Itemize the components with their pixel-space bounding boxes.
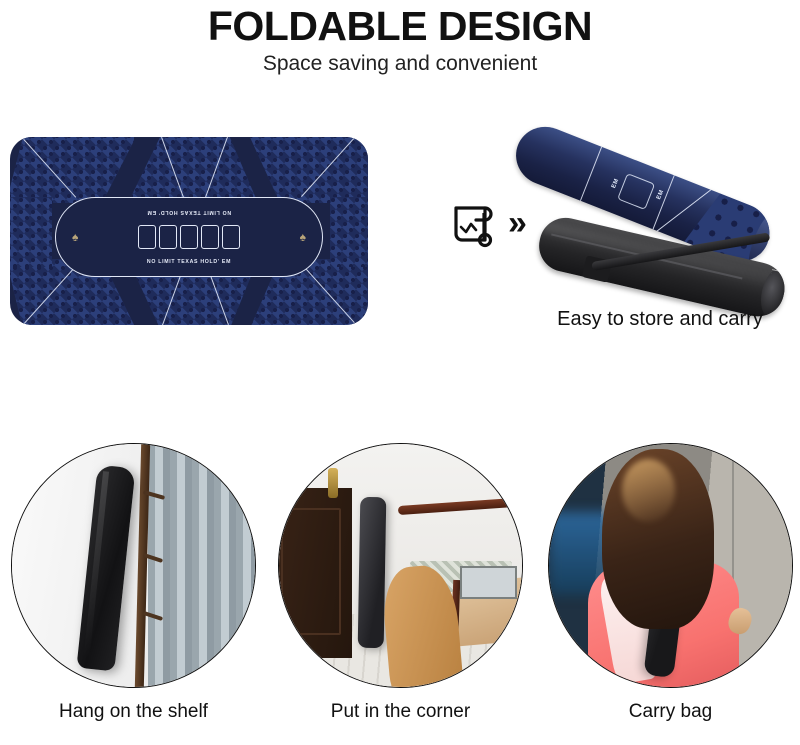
photo-hang-on-shelf [11, 443, 256, 688]
usage-scenes: Hang on the shelf Put in the corner [0, 443, 800, 743]
mat-label-bottom: NO LIMIT TEXAS HOLD' EM [56, 259, 322, 265]
standing-carry-bag [358, 497, 387, 648]
mat-panel-mid-left [10, 197, 52, 267]
rolled-mat-seam [580, 147, 603, 201]
rolled-mat-card-slot [617, 173, 655, 210]
scene-curtain [148, 444, 255, 687]
spade-emblem-left-icon: ♠ [72, 231, 78, 243]
mat-playing-oval: NO LIMIT TEXAS HOLD' EM ♠ ♠ NO LIMIT TEX… [55, 197, 323, 277]
photo-put-in-corner [278, 443, 523, 688]
rolled-mat-icon [452, 200, 498, 248]
card-slot-row [138, 225, 240, 249]
poker-mat-image: NO LIMIT TEXAS HOLD' EM ♠ ♠ NO LIMIT TEX… [10, 137, 368, 325]
photo-carry-bag [548, 443, 793, 688]
poker-mat-surface: NO LIMIT TEXAS HOLD' EM ♠ ♠ NO LIMIT TEX… [10, 137, 368, 325]
usage-caption-1: Hang on the shelf [11, 701, 256, 723]
rolled-mat-label: EM [611, 178, 620, 190]
wooden-cabinet [278, 488, 352, 658]
mat-panel-top-right [248, 137, 368, 203]
picture-frame [460, 566, 517, 599]
usage-caption-3: Carry bag [548, 701, 793, 723]
page-subtitle: Space saving and convenient [0, 52, 800, 76]
usage-scene-3: Carry bag [548, 443, 793, 688]
mat-panel-top-center [128, 137, 258, 203]
store-caption: Easy to store and carry [520, 308, 800, 331]
usage-scene-2: Put in the corner [278, 443, 523, 688]
page-title: FOLDABLE DESIGN [0, 0, 800, 48]
hair-highlight [622, 459, 675, 522]
card-slot [138, 225, 156, 249]
card-slot [222, 225, 240, 249]
mat-panel-mid-right [330, 197, 368, 267]
chevron-right-double-icon: » [508, 206, 527, 240]
brass-lamp-finial [328, 468, 338, 498]
card-slot [159, 225, 177, 249]
mat-label-top: NO LIMIT TEXAS HOLD' EM [56, 209, 322, 215]
spade-emblem-right-icon: ♠ [300, 231, 306, 243]
card-slot [180, 225, 198, 249]
card-slot [201, 225, 219, 249]
usage-scene-1: Hang on the shelf [11, 443, 256, 688]
usage-caption-2: Put in the corner [278, 701, 523, 723]
rolled-mat-seam [653, 175, 676, 229]
cabinet-panel [281, 508, 341, 634]
